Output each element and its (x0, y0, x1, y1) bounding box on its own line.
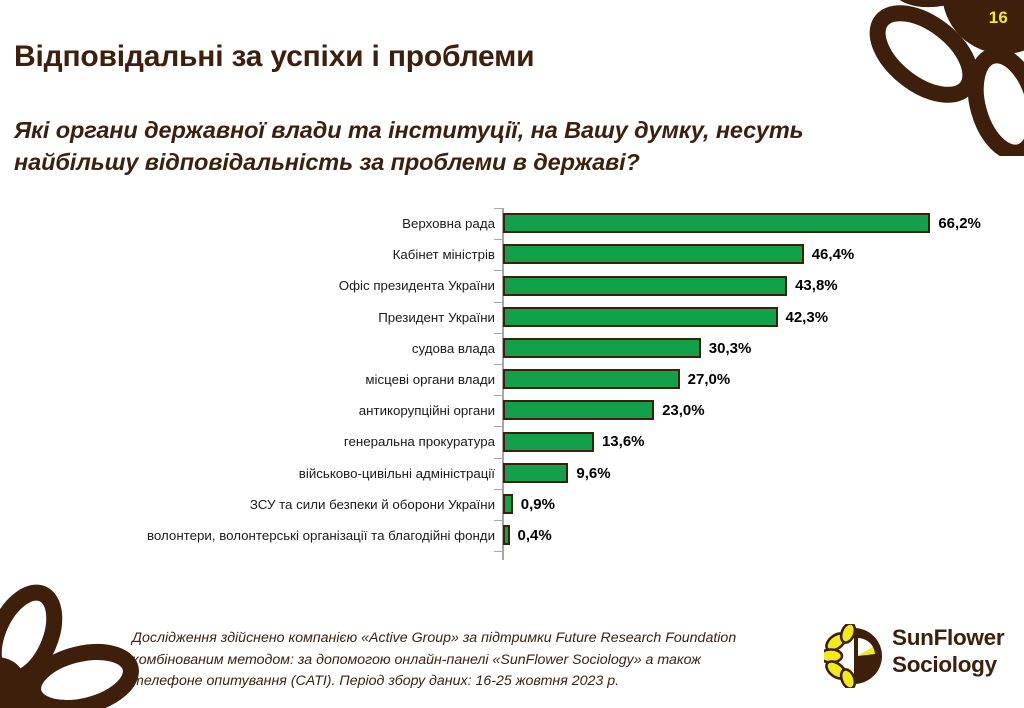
axis-tick (494, 333, 502, 334)
sunflower-sociology-logo: SunFlower Sociology (824, 622, 1009, 692)
methodology-note: Дослідження здійснено компанією «Active … (132, 628, 812, 693)
chart-bar (503, 432, 594, 452)
chart-bar-row: генеральна прокуратура13,6% (0, 426, 1010, 457)
category-label: антикорупційні органи (75, 395, 495, 426)
axis-tick (494, 395, 502, 396)
category-label: Кабінет міністрів (75, 239, 495, 270)
chart-bar-row: Офіс президента України43,8% (0, 270, 1010, 301)
category-label: Офіс президента України (75, 270, 495, 301)
chart-bar (503, 494, 513, 514)
chart-bar-row: Президент України42,3% (0, 302, 1010, 333)
category-label: судова влада (75, 333, 495, 364)
chart-bar-row: місцеві органи влади27,0% (0, 364, 1010, 395)
chart-bar (503, 338, 701, 358)
category-label: ЗСУ та сили безпеки й оборони України (75, 489, 495, 520)
axis-tick (494, 270, 502, 271)
question-line-1: Які органи державної влади та інституції… (14, 117, 803, 143)
logo-line-sunflower: SunFlower (892, 624, 1004, 651)
axis-tick (494, 551, 502, 552)
chart-bar (503, 213, 930, 233)
axis-tick (494, 239, 502, 240)
category-label-wrapper: ЗСУ та сили безпеки й оборони України (72, 489, 495, 520)
chart-bar (503, 244, 804, 264)
axis-tick (494, 302, 502, 303)
methodology-note-line-3: телефоне опитування (CATI). Період збору… (132, 671, 812, 693)
chart-bar-row: Верховна рада66,2% (0, 208, 1010, 239)
category-label-wrapper: Президент України (72, 302, 495, 333)
axis-tick (494, 458, 502, 459)
chart-bar (503, 369, 680, 389)
bar-value-label: 43,8% (795, 270, 838, 301)
axis-tick (494, 364, 502, 365)
chart-bar-row: судова влада30,3% (0, 333, 1010, 364)
chart-bar (503, 400, 654, 420)
sunflower-icon (824, 624, 888, 688)
axis-tick (494, 426, 502, 427)
question-text: Які органи державної влади та інституції… (14, 114, 914, 179)
chart-bar-row: антикорупційні органи23,0% (0, 395, 1010, 426)
bar-value-label: 13,6% (602, 426, 645, 457)
axis-tick (494, 208, 502, 209)
category-label: військово-цивільні адміністрації (75, 458, 495, 489)
chart-bar (503, 307, 778, 327)
logo-wordmark: SunFlower Sociology (892, 624, 1004, 679)
category-label-wrapper: Верховна рада (72, 208, 495, 239)
bar-value-label: 9,6% (576, 458, 610, 489)
bar-value-label: 0,9% (521, 489, 555, 520)
chart-bar (503, 525, 510, 545)
category-label-wrapper: військово-цивільні адміністрації (72, 458, 495, 489)
axis-tick (494, 489, 502, 490)
category-label-wrapper: місцеві органи влади (72, 364, 495, 395)
category-label: Верховна рада (75, 208, 495, 239)
chart-bar-row: Кабінет міністрів46,4% (0, 239, 1010, 270)
bar-value-label: 46,4% (812, 239, 855, 270)
chart-bar (503, 276, 787, 296)
methodology-note-line-2: комбінованим методом: за допомогою онлай… (132, 650, 812, 672)
category-label-wrapper: Кабінет міністрів (72, 239, 495, 270)
chart-bar-row: ЗСУ та сили безпеки й оборони України0,9… (0, 489, 1010, 520)
category-label-wrapper: генеральна прокуратура (72, 426, 495, 457)
bar-value-label: 42,3% (786, 302, 829, 333)
bar-chart: Верховна рада66,2%Кабінет міністрів46,4%… (0, 204, 1010, 570)
question-line-2: найбільшу відповідальність за проблеми в… (14, 149, 640, 175)
category-label: місцеві органи влади (75, 364, 495, 395)
chart-bar-row: волонтери, волонтерські організації та б… (0, 520, 1010, 551)
category-label-wrapper: судова влада (72, 333, 495, 364)
category-label-wrapper: антикорупційні органи (72, 395, 495, 426)
bar-value-label: 30,3% (709, 333, 752, 364)
slide-root: 16 Відповідальні за успіхи і проблеми Як… (0, 0, 1024, 708)
chart-bar (503, 463, 568, 483)
category-label: генеральна прокуратура (75, 426, 495, 457)
axis-tick (494, 520, 502, 521)
bar-value-label: 66,2% (938, 208, 981, 239)
methodology-note-line-1: Дослідження здійснено компанією «Active … (132, 628, 812, 650)
bar-value-label: 23,0% (662, 395, 705, 426)
category-label-wrapper: Офіс президента України (72, 270, 495, 301)
flower-decoration-bottom-left (0, 574, 144, 708)
chart-bar-row: військово-цивільні адміністрації9,6% (0, 458, 1010, 489)
page-title: Відповідальні за успіхи і проблеми (14, 40, 534, 74)
bar-value-label: 0,4% (518, 520, 552, 551)
category-label: Президент України (75, 302, 495, 333)
page-number: 16 (989, 8, 1008, 28)
category-label: волонтери, волонтерські організації та б… (75, 520, 495, 551)
category-label-wrapper: волонтери, волонтерські організації та б… (72, 520, 495, 551)
logo-line-sociology: Sociology (892, 651, 1004, 678)
bar-value-label: 27,0% (688, 364, 731, 395)
